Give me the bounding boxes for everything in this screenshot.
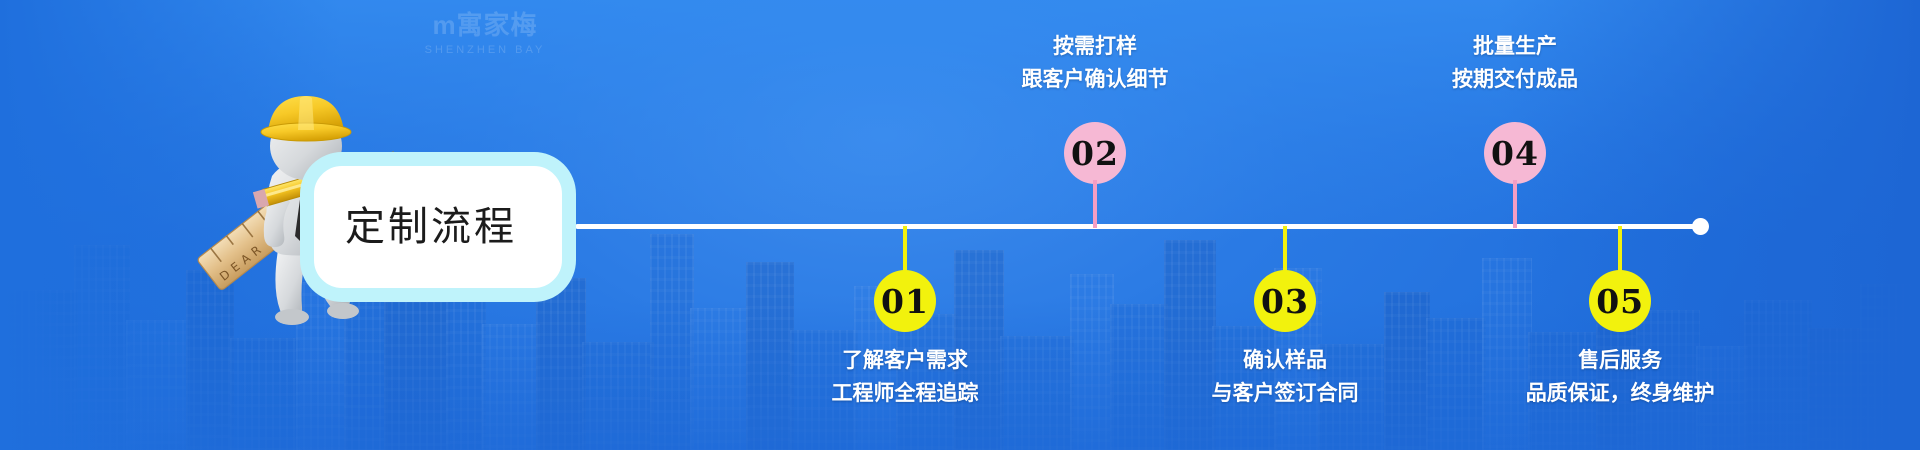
node-stem-04: [1513, 180, 1517, 228]
node-caption-05: 售后服务 品质保证，终身维护: [1430, 344, 1810, 410]
node-caption-line2-05: 品质保证，终身维护: [1430, 377, 1810, 410]
timeline-node-04[interactable]: 批量生产 按期交付成品 04: [1325, 30, 1705, 230]
node-number-badge-05[interactable]: 05: [1589, 270, 1651, 332]
node-number-01: 01: [881, 282, 929, 321]
timeline-node-01[interactable]: 01 了解客户需求 工程师全程追踪: [715, 226, 1095, 416]
node-number-badge-04[interactable]: 04: [1484, 122, 1546, 184]
page-title: 定制流程: [345, 205, 555, 249]
timeline-node-05[interactable]: 05 售后服务 品质保证，终身维护: [1320, 226, 1920, 416]
node-caption-line1-02: 按需打样: [1053, 35, 1137, 58]
timeline-node-02[interactable]: 按需打样 跟客户确认细节 02: [905, 30, 1285, 230]
node-number-badge-03[interactable]: 03: [1254, 270, 1316, 332]
banner-root: m寓家梅 SHENZHEN BAY: [0, 0, 1920, 450]
node-caption-line2-01: 工程师全程追踪: [715, 377, 1095, 410]
node-caption-line1-05: 售后服务: [1578, 349, 1662, 372]
node-number-02: 02: [1071, 134, 1119, 173]
node-caption-line1-04: 批量生产: [1473, 35, 1557, 58]
node-caption-line2-02: 跟客户确认细节: [905, 63, 1285, 96]
node-caption-02: 按需打样 跟客户确认细节: [905, 30, 1285, 96]
node-caption-line1-03: 确认样品: [1243, 349, 1327, 372]
node-number-04: 04: [1491, 134, 1539, 173]
node-number-03: 03: [1261, 282, 1309, 321]
node-caption-01: 了解客户需求 工程师全程追踪: [715, 344, 1095, 410]
node-stem-02: [1093, 180, 1097, 228]
node-number-badge-01[interactable]: 01: [874, 270, 936, 332]
node-caption-04: 批量生产 按期交付成品: [1325, 30, 1705, 96]
node-number-05: 05: [1596, 282, 1644, 321]
node-caption-line1-01: 了解客户需求: [842, 349, 968, 372]
node-number-badge-02[interactable]: 02: [1064, 122, 1126, 184]
node-caption-line2-04: 按期交付成品: [1325, 63, 1705, 96]
